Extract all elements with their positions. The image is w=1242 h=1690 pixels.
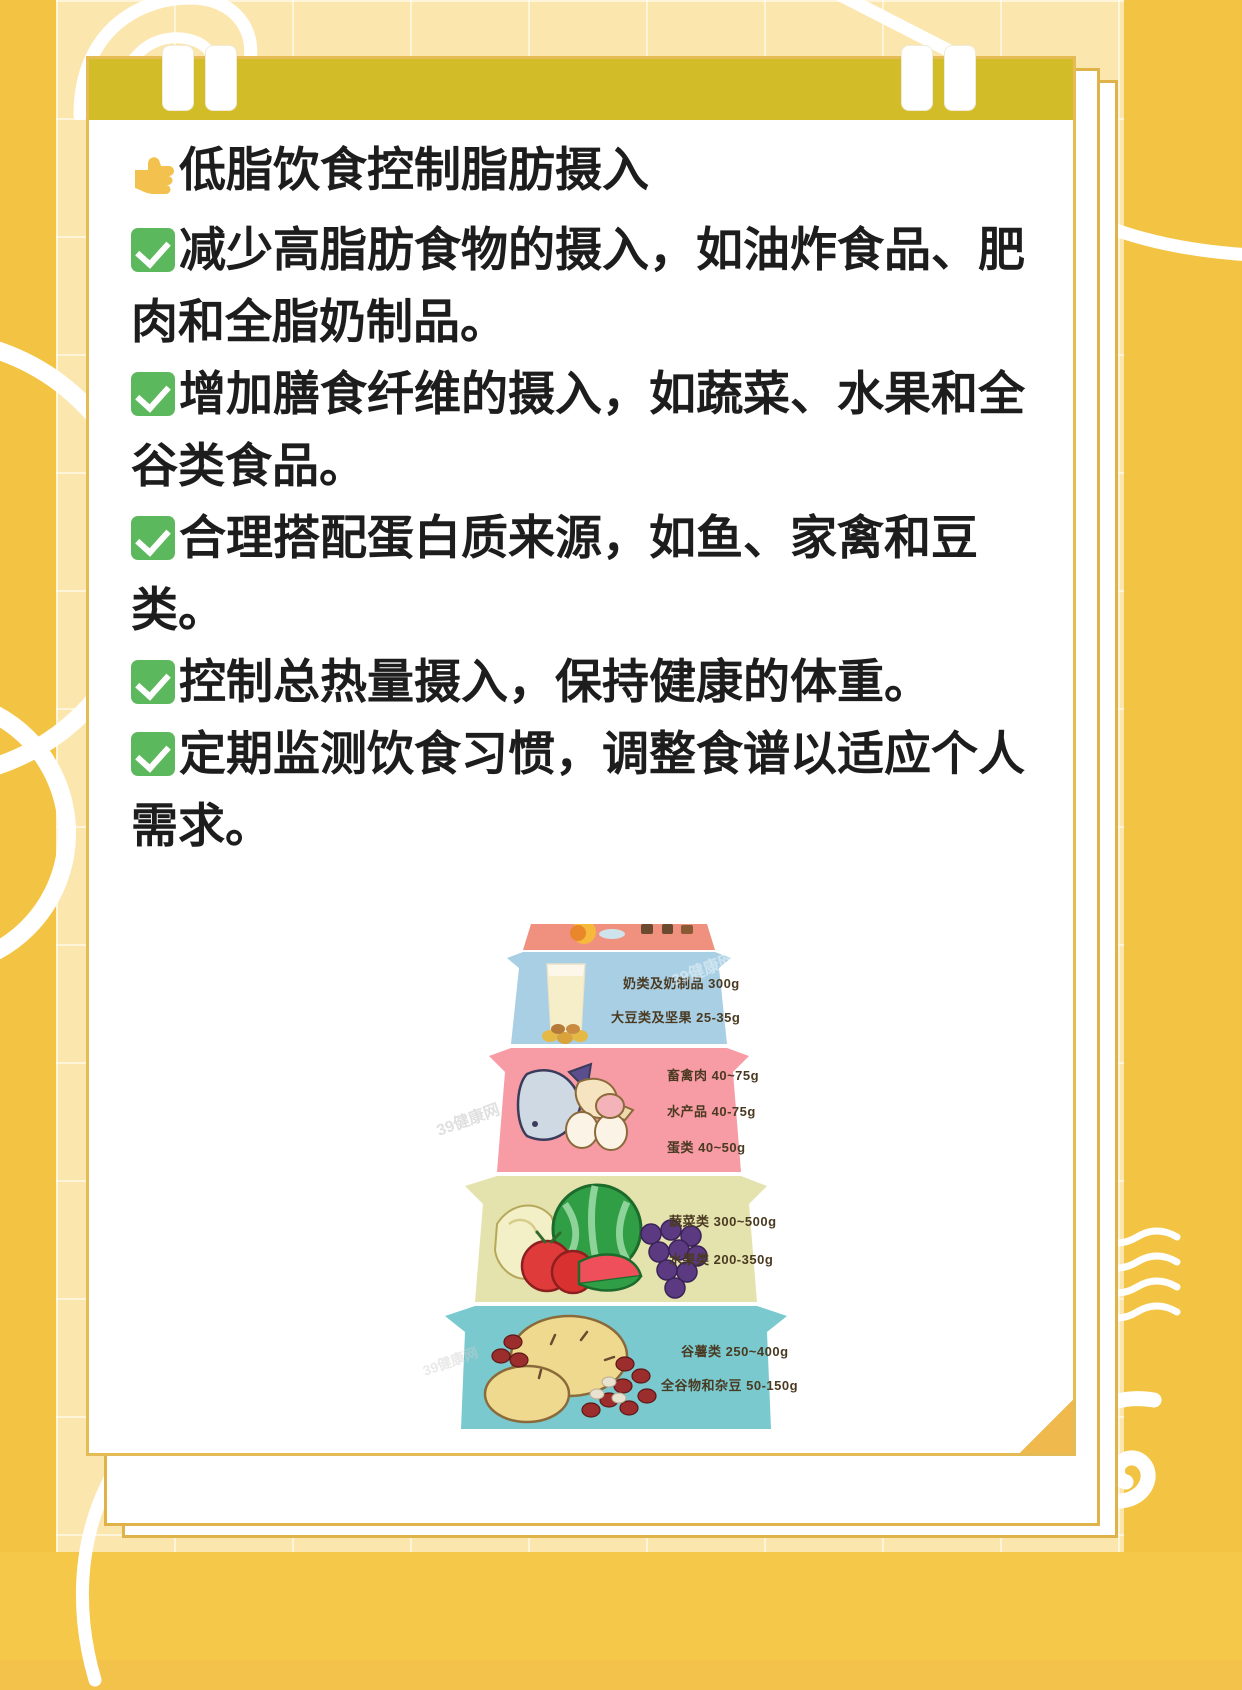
section-title-line: 低脂饮食控制脂肪摄入	[131, 134, 1037, 214]
binder-clip-left-1	[162, 45, 194, 111]
vegetable-fruit-tier: 蔬菜类 300~500g 水果类 200-350g	[465, 1176, 777, 1302]
binder-clip-left-2	[205, 45, 237, 111]
bullet-text-3: 合理搭配蛋白质来源，如鱼、家禽和豆类。	[131, 511, 978, 636]
tier-grain-label-2: 全谷物和杂豆 50-150g	[660, 1378, 798, 1393]
check-mark-icon	[131, 228, 175, 272]
tier-dairy-label-2: 大豆类及坚果 25-35g	[611, 1010, 740, 1025]
bullet-item-2: 增加膳食纤维的摄入，如蔬菜、水果和全谷类食品。	[131, 358, 1037, 502]
check-mark-icon	[131, 516, 175, 560]
content-card: 低脂饮食控制脂肪摄入 减少高脂肪食物的摄入，如油炸食品、肥肉和全脂奶制品。 增加…	[86, 56, 1076, 1456]
tier-veg-label-2: 水果类 200-350g	[669, 1252, 773, 1267]
bullet-item-3: 合理搭配蛋白质来源，如鱼、家禽和豆类。	[131, 502, 1037, 646]
svg-text:39健康网: 39健康网	[434, 1099, 502, 1139]
page-fold-corner	[1020, 1400, 1076, 1456]
oils-salt-tier	[523, 924, 715, 950]
bullet-item-4: 控制总热量摄入，保持健康的体重。	[131, 646, 1037, 718]
binder-clip-right-2	[944, 45, 976, 111]
article-body: 低脂饮食控制脂肪摄入 减少高脂肪食物的摄入，如油炸食品、肥肉和全脂奶制品。 增加…	[131, 134, 1037, 862]
bullet-text-2: 增加膳食纤维的摄入，如蔬菜、水果和全谷类食品。	[131, 367, 1025, 492]
section-title-text: 低脂饮食控制脂肪摄入	[179, 143, 649, 196]
binder-clip-right-1	[901, 45, 933, 111]
check-mark-icon	[131, 732, 175, 776]
tier-veg-label-1: 蔬菜类 300~500g	[669, 1214, 777, 1229]
tier-meat-label-3: 蛋类 40~50g	[667, 1140, 746, 1155]
food-pyramid-image: 奶类及奶制品 300g 大豆类及坚果 25-35g 畜禽肉 40~75g 水产品…	[419, 924, 819, 1429]
bullet-text-1: 减少高脂肪食物的摄入，如油炸食品、肥肉和全脂奶制品。	[131, 223, 1025, 348]
meat-fish-egg-tier: 畜禽肉 40~75g 水产品 40-75g 蛋类 40~50g	[489, 1048, 759, 1172]
check-mark-icon	[131, 660, 175, 704]
bullet-text-4: 控制总热量摄入，保持健康的体重。	[179, 655, 931, 708]
pointing-right-icon	[131, 142, 177, 214]
grain-tuber-tier: 谷薯类 250~400g 全谷物和杂豆 50-150g	[445, 1306, 798, 1429]
tier-meat-label-1: 畜禽肉 40~75g	[667, 1068, 759, 1083]
bullet-item-5: 定期监测饮食习惯，调整食谱以适应个人需求。	[131, 718, 1037, 862]
check-mark-icon	[131, 372, 175, 416]
tier-grain-label-1: 谷薯类 250~400g	[681, 1344, 789, 1359]
bullet-text-5: 定期监测饮食习惯，调整食谱以适应个人需求。	[131, 727, 1025, 852]
tier-meat-label-2: 水产品 40-75g	[667, 1104, 756, 1119]
bullet-item-1: 减少高脂肪食物的摄入，如油炸食品、肥肉和全脂奶制品。	[131, 214, 1037, 358]
